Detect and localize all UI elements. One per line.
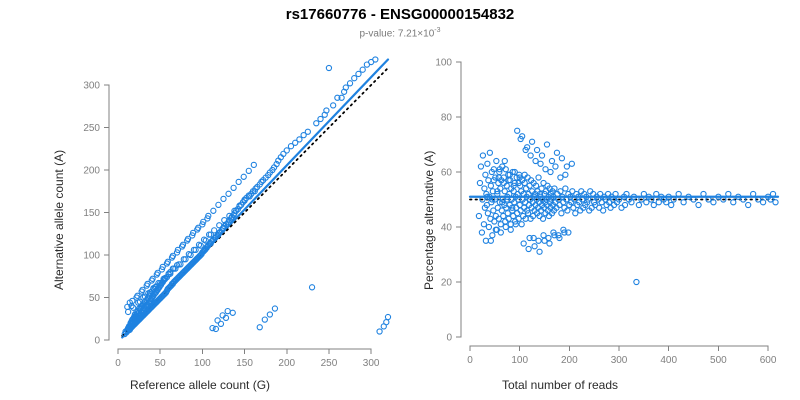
- data-point: [226, 191, 231, 196]
- data-point: [256, 0, 261, 3]
- y-axis-title-left: Alternative allele count (A): [52, 150, 66, 290]
- x-axis-tick-label: 50: [155, 358, 167, 369]
- data-point: [485, 211, 490, 216]
- data-point: [573, 211, 578, 216]
- y-axis-tick-label: 60: [441, 168, 453, 179]
- data-point: [377, 329, 382, 334]
- data-point: [494, 158, 499, 163]
- data-point: [503, 224, 508, 229]
- data-point: [534, 147, 539, 152]
- data-point: [309, 285, 314, 290]
- data-point: [559, 211, 564, 216]
- data-point: [218, 321, 223, 326]
- series-points: [122, 0, 390, 337]
- data-point: [373, 57, 378, 62]
- data-point: [490, 233, 495, 238]
- data-point: [622, 202, 627, 207]
- data-point: [135, 293, 140, 298]
- data-point: [644, 200, 649, 205]
- data-point: [352, 76, 357, 81]
- data-point: [216, 202, 221, 207]
- panel-percentage-alternative: 0100200300400500600020406080100 Total nu…: [400, 0, 800, 400]
- data-point: [554, 150, 559, 155]
- data-point: [297, 137, 302, 142]
- data-point: [140, 287, 145, 292]
- data-point: [318, 116, 323, 121]
- y-axis-tick-label: 100: [83, 251, 100, 262]
- data-point: [272, 306, 277, 311]
- scatter-plot-percentage: 0100200300400500600020406080100: [400, 0, 800, 400]
- data-point: [385, 314, 390, 319]
- data-point: [515, 211, 520, 216]
- data-point: [480, 153, 485, 158]
- data-point: [267, 312, 272, 317]
- data-point: [478, 164, 483, 169]
- data-point: [563, 172, 568, 177]
- data-point: [185, 236, 190, 241]
- data-point: [569, 161, 574, 166]
- x-axis-tick-label: 150: [236, 358, 253, 369]
- data-point: [537, 249, 542, 254]
- data-point: [188, 252, 193, 257]
- data-point: [347, 81, 352, 86]
- y-axis-line: [456, 62, 461, 337]
- data-point: [305, 129, 310, 134]
- y-axis-tick-label: 100: [435, 58, 452, 69]
- data-point: [532, 244, 537, 249]
- data-point: [477, 180, 482, 185]
- data-point: [563, 186, 568, 191]
- data-point: [761, 200, 766, 205]
- data-point: [198, 243, 203, 248]
- y-axis-tick-label: 200: [83, 166, 100, 177]
- data-point: [634, 279, 639, 284]
- data-point: [486, 224, 491, 229]
- data-point: [231, 185, 236, 190]
- y-axis-tick-label: 80: [441, 113, 453, 124]
- data-point: [636, 202, 641, 207]
- data-point: [539, 153, 544, 158]
- data-point: [356, 71, 361, 76]
- data-point: [384, 320, 389, 325]
- data-point: [559, 156, 564, 161]
- data-point: [564, 164, 569, 169]
- data-point: [508, 227, 513, 232]
- y-axis-tick-label: 150: [83, 208, 100, 219]
- data-point: [521, 241, 526, 246]
- x-axis-tick-label: 200: [561, 355, 578, 366]
- data-point: [518, 208, 523, 213]
- data-point: [533, 158, 538, 163]
- x-axis-title-right: Total number of reads: [360, 378, 760, 392]
- data-point: [608, 205, 613, 210]
- data-point: [221, 196, 226, 201]
- data-point: [483, 172, 488, 177]
- y-axis-tick-label: 40: [441, 223, 453, 234]
- data-point: [126, 309, 131, 314]
- x-axis-title-left: Reference allele count (G): [0, 378, 400, 392]
- data-point: [503, 219, 508, 224]
- data-point: [681, 200, 686, 205]
- data-point: [246, 168, 251, 173]
- data-point: [213, 326, 218, 331]
- data-point: [515, 128, 520, 133]
- x-axis-tick-label: 200: [278, 358, 295, 369]
- data-point: [485, 161, 490, 166]
- y-axis-tick-label: 20: [441, 278, 453, 289]
- x-axis-tick-label: 400: [660, 355, 677, 366]
- data-point: [284, 148, 289, 153]
- data-point: [262, 317, 267, 322]
- x-axis-tick-label: 250: [321, 358, 338, 369]
- series-points: [476, 128, 778, 284]
- data-point: [251, 162, 256, 167]
- data-point: [540, 216, 545, 221]
- data-point: [526, 246, 531, 251]
- data-point: [360, 67, 365, 72]
- y-axis-tick-label: 300: [83, 81, 100, 92]
- data-point: [619, 205, 624, 210]
- data-point: [479, 230, 484, 235]
- data-point: [487, 150, 492, 155]
- data-point: [538, 161, 543, 166]
- data-point: [553, 164, 558, 169]
- x-axis-tick-label: 0: [115, 358, 121, 369]
- data-point: [257, 325, 262, 330]
- data-point: [241, 174, 246, 179]
- data-point: [711, 200, 716, 205]
- x-axis-tick-label: 500: [710, 355, 727, 366]
- data-point: [773, 200, 778, 205]
- y-axis-title-right: Percentage alternative (A): [422, 151, 436, 290]
- data-point: [528, 153, 533, 158]
- y-axis-tick-label: 0: [446, 333, 452, 344]
- data-point: [547, 241, 552, 246]
- x-axis-tick-label: 0: [467, 355, 473, 366]
- data-point: [217, 223, 222, 228]
- data-point: [211, 208, 216, 213]
- data-point: [170, 253, 175, 258]
- data-point: [225, 309, 230, 314]
- panel-allele-counts: 050100150200250300050100150200250300 Ref…: [0, 0, 400, 400]
- data-point: [203, 238, 208, 243]
- data-point: [503, 167, 508, 172]
- data-point: [165, 259, 170, 264]
- data-point: [266, 0, 271, 3]
- x-axis-tick-label: 300: [363, 358, 380, 369]
- data-point: [481, 222, 486, 227]
- figure-root: rs17660776 - ENSG00000154832 p-value: 7.…: [0, 0, 800, 400]
- y-axis-tick-label: 50: [89, 293, 101, 304]
- x-axis-tick-label: 600: [760, 355, 777, 366]
- data-point: [541, 233, 546, 238]
- data-point: [488, 183, 493, 188]
- data-point: [502, 158, 507, 163]
- data-point: [482, 186, 487, 191]
- data-point: [536, 175, 541, 180]
- data-point: [180, 242, 185, 247]
- data-point: [326, 65, 331, 70]
- data-point: [498, 230, 503, 235]
- data-point: [544, 142, 549, 147]
- data-point: [746, 202, 751, 207]
- data-point: [230, 310, 235, 315]
- data-point: [524, 186, 529, 191]
- data-point: [261, 0, 266, 3]
- data-point: [669, 202, 674, 207]
- data-point: [236, 179, 241, 184]
- data-point: [476, 213, 481, 218]
- data-point: [536, 238, 541, 243]
- data-point: [530, 139, 535, 144]
- data-point: [543, 167, 548, 172]
- y-axis-tick-label: 250: [83, 123, 100, 134]
- data-point: [546, 235, 551, 240]
- data-point: [150, 276, 155, 281]
- x-axis-tick-label: 300: [611, 355, 628, 366]
- data-point: [331, 103, 336, 108]
- x-axis-tick-label: 100: [511, 355, 528, 366]
- data-point: [656, 200, 661, 205]
- data-point: [549, 158, 554, 163]
- x-axis-tick-label: 100: [194, 358, 211, 369]
- data-point: [486, 178, 491, 183]
- data-point: [271, 0, 276, 3]
- data-point: [696, 202, 701, 207]
- data-point: [651, 202, 656, 207]
- y-axis-tick-label: 0: [94, 336, 100, 347]
- data-point: [519, 222, 524, 227]
- data-point: [548, 169, 553, 174]
- data-point: [145, 281, 150, 286]
- data-point: [731, 200, 736, 205]
- data-point: [155, 270, 160, 275]
- data-point: [601, 208, 606, 213]
- data-point: [314, 121, 319, 126]
- data-point: [196, 225, 201, 230]
- data-point: [558, 175, 563, 180]
